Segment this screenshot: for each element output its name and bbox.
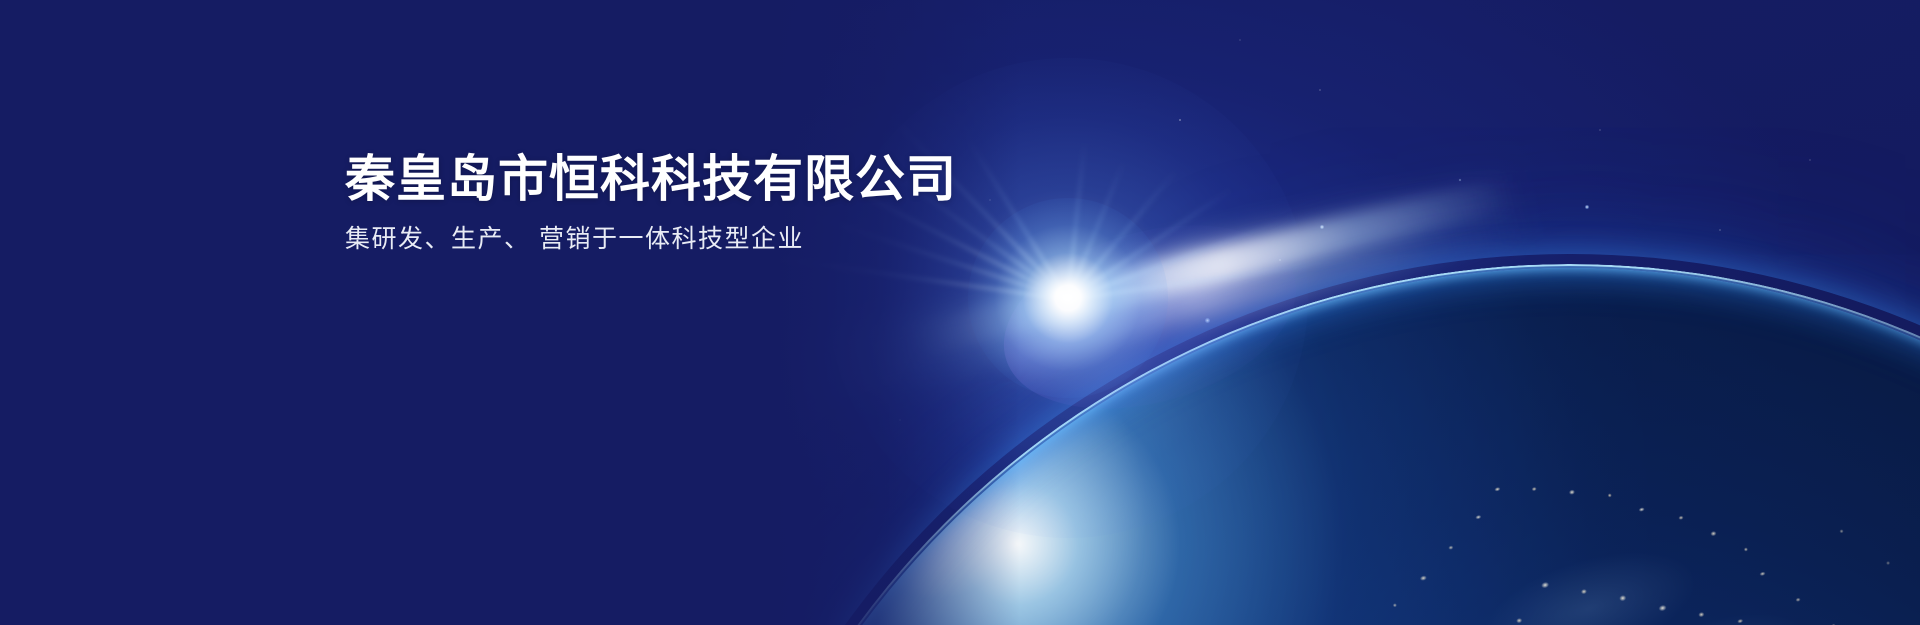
left-solid-backdrop — [0, 0, 780, 625]
left-backdrop-fade — [760, 0, 1020, 625]
banner-text-block: 秦皇岛市恒科科技有限公司 集研发、生产、 营销于一体科技型企业 — [345, 150, 957, 257]
company-title: 秦皇岛市恒科科技有限公司 — [345, 150, 957, 209]
hero-banner: 秦皇岛市恒科科技有限公司 集研发、生产、 营销于一体科技型企业 — [0, 0, 1920, 625]
company-tagline: 集研发、生产、 营销于一体科技型企业 — [345, 223, 957, 257]
star-glint — [1585, 205, 1589, 209]
